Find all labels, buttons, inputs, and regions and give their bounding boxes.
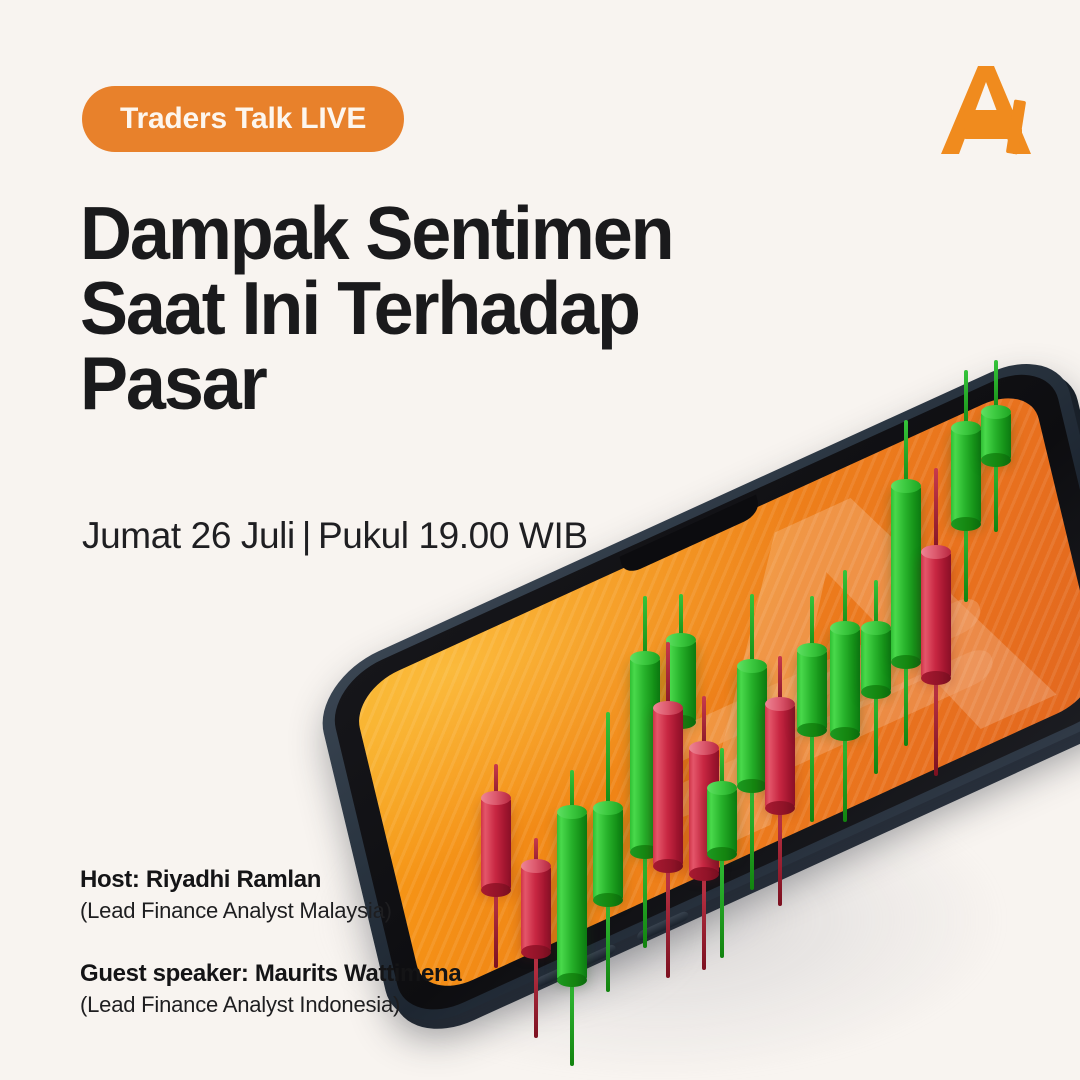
candle-bullish xyxy=(951,370,981,602)
candle-bullish xyxy=(830,570,860,822)
host-name: Host: Riyadhi Ramlan xyxy=(80,866,600,894)
candle-base-ellipse xyxy=(707,847,737,861)
guest-speaker-role: (Lead Finance Analyst Indonesia) xyxy=(80,992,600,1018)
candle-body xyxy=(891,486,921,662)
candle-cap-ellipse xyxy=(861,621,891,635)
candle-cap-ellipse xyxy=(481,791,511,805)
speakers-block: Host: Riyadhi Ramlan (Lead Finance Analy… xyxy=(80,866,600,1018)
candle-base-ellipse xyxy=(765,801,795,815)
candle-wick-lower xyxy=(750,776,754,890)
candle-cap-ellipse xyxy=(707,781,737,795)
headline-line-3: Pasar xyxy=(80,346,810,421)
candle-body xyxy=(737,666,767,786)
candle-body xyxy=(707,788,737,854)
candle-bullish xyxy=(861,580,891,774)
headline-line-2: Saat Ini Terhadap xyxy=(80,271,810,346)
candle-base-ellipse xyxy=(891,655,921,669)
candle-wick-lower xyxy=(666,856,670,978)
candle-base-ellipse xyxy=(797,723,827,737)
candle-base-ellipse xyxy=(653,859,683,873)
candle-bearish xyxy=(921,468,951,776)
candle-cap-ellipse xyxy=(593,801,623,815)
candle-bearish xyxy=(653,642,683,978)
page-title: Dampak Sentimen Saat Ini Terhadap Pasar xyxy=(80,196,810,421)
schedule-separator: | xyxy=(295,515,318,556)
candle-body xyxy=(951,428,981,524)
candle-cap-ellipse xyxy=(797,643,827,657)
candle-base-ellipse xyxy=(861,685,891,699)
candle-cap-ellipse xyxy=(981,405,1011,419)
candle-body xyxy=(797,650,827,730)
host-role: (Lead Finance Analyst Malaysia) xyxy=(80,898,600,924)
candle-body xyxy=(861,628,891,692)
schedule-date: Jumat 26 Juli xyxy=(82,515,295,556)
headline-line-1: Dampak Sentimen xyxy=(80,196,810,271)
candle-cap-ellipse xyxy=(737,659,767,673)
candle-cap-ellipse xyxy=(951,421,981,435)
candle-base-ellipse xyxy=(951,517,981,531)
candle-bullish xyxy=(891,420,921,746)
candle-body xyxy=(981,412,1011,460)
candle-cap-ellipse xyxy=(653,701,683,715)
candle-cap-ellipse xyxy=(765,697,795,711)
schedule-time: Pukul 19.00 WIB xyxy=(318,515,588,556)
candle-cap-ellipse xyxy=(557,805,587,819)
candle-bullish xyxy=(707,748,737,958)
candle-body xyxy=(653,708,683,866)
candle-wick-lower xyxy=(720,844,724,958)
candle-bullish xyxy=(797,596,827,822)
candle-base-ellipse xyxy=(981,453,1011,467)
speakers-spacer xyxy=(80,924,600,960)
promo-poster: Traders Talk LIVE Dampak Sentimen Saat I… xyxy=(0,0,1080,1080)
candle-body xyxy=(830,628,860,734)
candle-body xyxy=(765,704,795,808)
brand-a-logo-icon xyxy=(934,60,1038,160)
live-badge: Traders Talk LIVE xyxy=(82,86,404,152)
candle-body xyxy=(921,552,951,678)
candle-cap-ellipse xyxy=(891,479,921,493)
candle-bearish xyxy=(765,656,795,906)
candle-bullish xyxy=(981,360,1011,532)
schedule-line: Jumat 26 Juli|Pukul 19.00 WIB xyxy=(82,515,588,557)
candle-base-ellipse xyxy=(737,779,767,793)
candle-base-ellipse xyxy=(830,727,860,741)
guest-speaker-name: Guest speaker: Maurits Wattimena xyxy=(80,960,600,988)
candle-cap-ellipse xyxy=(921,545,951,559)
candle-bullish xyxy=(737,594,767,890)
candle-cap-ellipse xyxy=(830,621,860,635)
candle-base-ellipse xyxy=(921,671,951,685)
